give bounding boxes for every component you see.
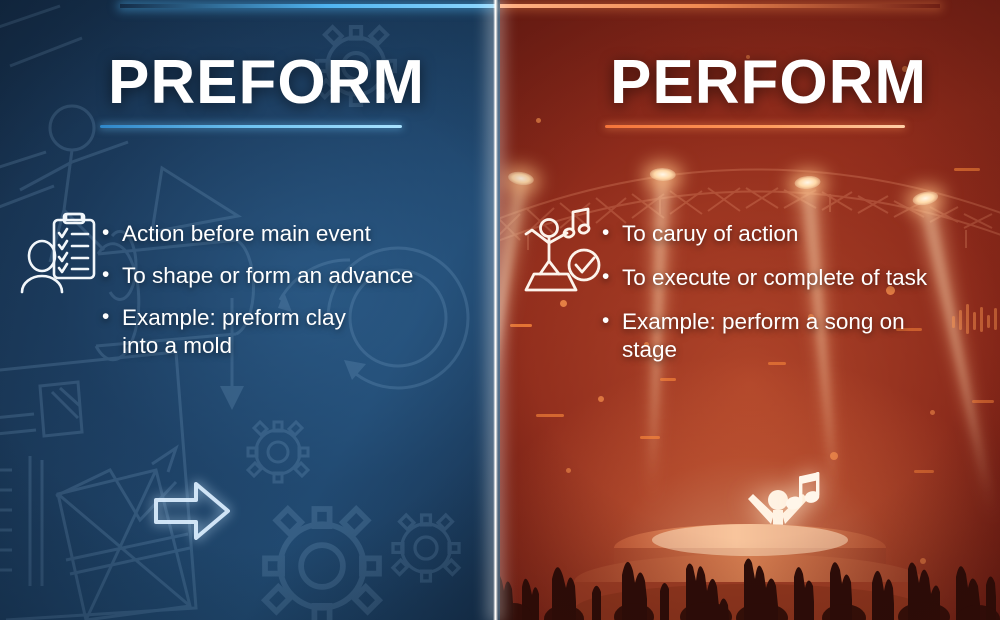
list-item: Action before main event xyxy=(100,220,470,248)
bullet-list-perform: To caruy of action To execute or complet… xyxy=(600,220,990,380)
list-item: To shape or form an advance xyxy=(100,262,470,290)
list-item: To execute or complete of task xyxy=(600,264,990,292)
list-item: Example: perform a song on stage xyxy=(600,308,990,364)
page-title-preform: PREFORM xyxy=(108,52,425,114)
list-item: Example: preform clay into a mold xyxy=(100,304,470,360)
bullet-list-preform: Action before main event To shape or for… xyxy=(100,220,470,374)
list-item: To caruy of action xyxy=(600,220,990,248)
comparison-slide: PREFORM Action before xyxy=(0,0,1000,620)
performer-on-stage-icon xyxy=(518,206,610,294)
person-with-checklist-icon xyxy=(20,212,102,294)
title-underline-left xyxy=(100,125,402,128)
title-underline-right xyxy=(605,125,905,128)
page-title-perform: PERFORM xyxy=(610,52,927,114)
